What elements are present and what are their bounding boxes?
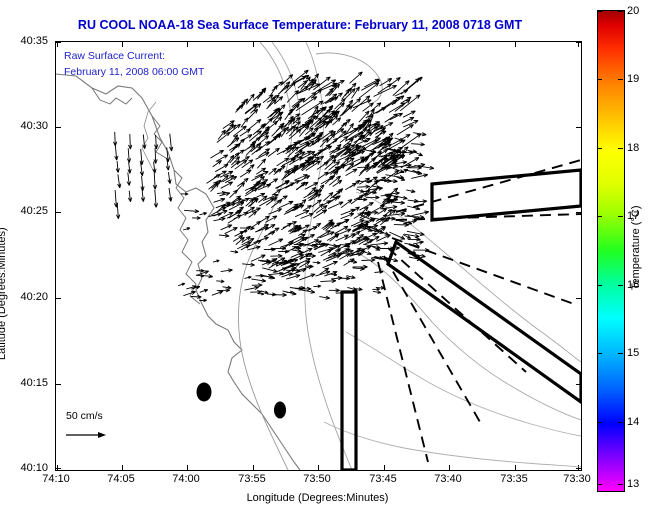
colorbar <box>597 10 625 492</box>
colorbar-tick-label: 13 <box>627 478 639 490</box>
y-tick-label: 40:35 <box>0 35 48 47</box>
colorbar-tick-label: 17 <box>627 210 639 222</box>
current-vectors <box>114 70 434 302</box>
scale-bar-label: 50 cm/s <box>66 410 103 422</box>
x-tick-label: 73:50 <box>292 473 342 485</box>
colorbar-tick-label: 19 <box>627 73 639 85</box>
annotation-line-1: Raw Surface Current: <box>64 50 165 62</box>
figure-title: RU COOL NOAA-18 Sea Surface Temperature:… <box>0 18 600 32</box>
y-tick-label: 40:15 <box>0 377 48 389</box>
x-tick-label: 74:00 <box>161 473 211 485</box>
x-axis-label: Longitude (Degrees:Minutes) <box>55 492 580 504</box>
y-tick-label: 40:25 <box>0 205 48 217</box>
map-graphics <box>56 42 581 470</box>
colorbar-tick-label: 16 <box>627 279 639 291</box>
annotation-line-2: February 11, 2008 06:00 GMT <box>64 66 204 78</box>
sst-map-figure: RU COOL NOAA-18 Sea Surface Temperature:… <box>0 0 651 518</box>
x-tick-label: 73:30 <box>552 473 602 485</box>
x-tick-label: 74:05 <box>96 473 146 485</box>
colorbar-tick-label: 20 <box>627 5 639 17</box>
y-tick-label: 40:20 <box>0 291 48 303</box>
x-tick-label: 73:40 <box>423 473 473 485</box>
colorbar-tick-label: 15 <box>627 347 639 359</box>
colorbar-tick-label: 14 <box>627 416 639 428</box>
x-tick-label: 73:45 <box>358 473 408 485</box>
map-plot-area: Raw Surface Current: February 11, 2008 0… <box>55 41 582 471</box>
scale-bar-arrow <box>66 430 106 440</box>
colorbar-tick-label: 18 <box>627 142 639 154</box>
x-tick-label: 73:55 <box>227 473 277 485</box>
x-tick-label: 74:10 <box>31 473 81 485</box>
x-tick-label: 73:35 <box>489 473 539 485</box>
y-tick-label: 40:30 <box>0 120 48 132</box>
